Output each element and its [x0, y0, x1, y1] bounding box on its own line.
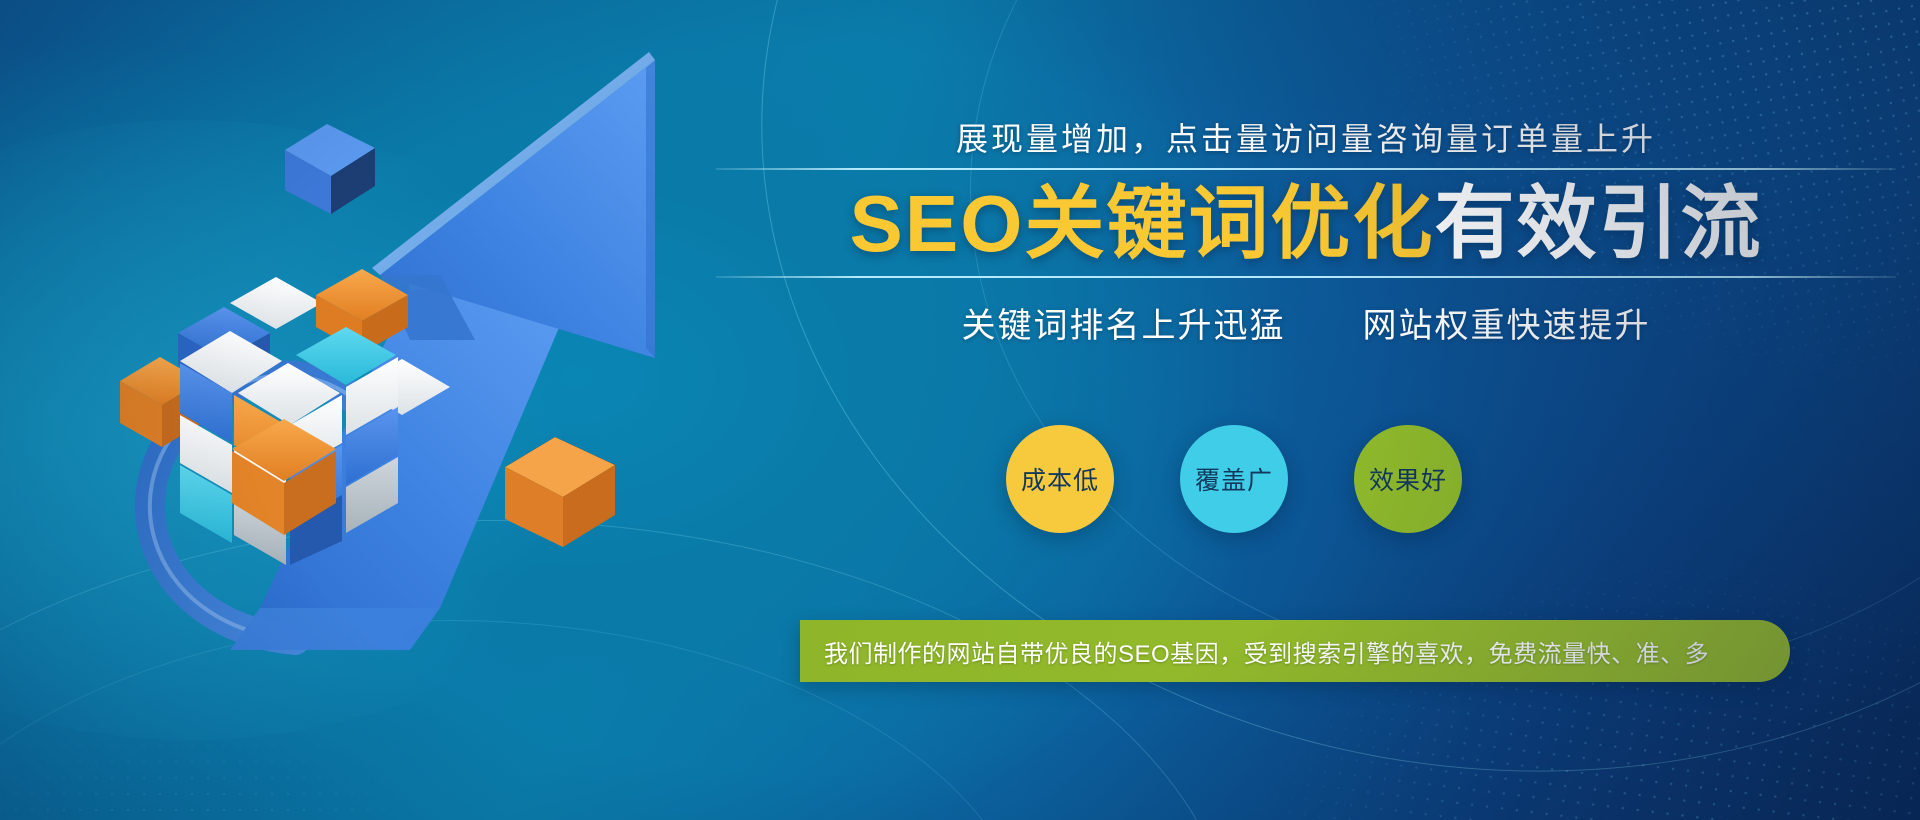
copy-block: 展现量增加，点击量访问量咨询量订单量上升 SEO关键词优化有效引流 关键词排名上…: [716, 120, 1896, 347]
headline-rest: 有效引流: [1434, 179, 1762, 268]
rubiks-cube-artwork: [120, 235, 450, 535]
footer-ribbon: 我们制作的网站自带优良的SEO基因，受到搜索引擎的喜欢，免费流量快、准、多: [800, 620, 1790, 682]
seo-promo-banner: 展现量增加，点击量访问量咨询量订单量上升 SEO关键词优化有效引流 关键词排名上…: [0, 0, 1920, 820]
rubiks-cube-icon: [120, 235, 460, 565]
subline-right: 网站权重快速提升: [1362, 307, 1650, 345]
tagline: 展现量增加，点击量访问量咨询量订单量上升: [716, 120, 1896, 168]
floating-orange-cube-icon: [495, 425, 630, 560]
badge-good-result[interactable]: 效果好: [1354, 425, 1462, 533]
benefit-badges: 成本低 覆盖广 效果好: [1006, 425, 1462, 533]
badge-wide-reach[interactable]: 覆盖广: [1180, 425, 1288, 533]
footer-ribbon-text: 我们制作的网站自带优良的SEO基因，受到搜索引擎的喜欢，免费流量快、准、多: [800, 634, 1709, 669]
page-title: SEO关键词优化有效引流: [716, 170, 1896, 275]
headline-highlight: SEO关键词优化: [850, 179, 1435, 268]
floating-blue-cube-icon: [275, 110, 385, 220]
subline-left: 关键词排名上升迅猛: [962, 307, 1286, 345]
subline: 关键词排名上升迅猛 网站权重快速提升: [716, 278, 1896, 347]
badge-low-cost[interactable]: 成本低: [1006, 425, 1114, 533]
